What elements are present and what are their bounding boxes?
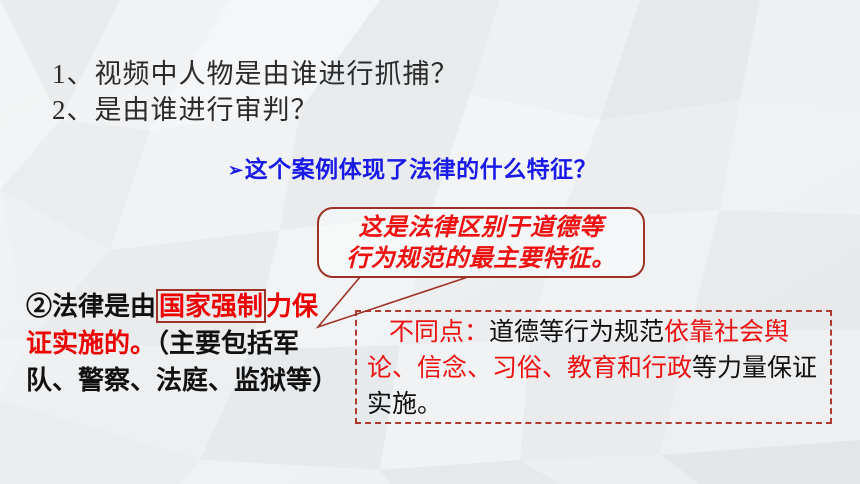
dashed-note-segment-1: 道德等行为规范 (489, 318, 664, 346)
slide-canvas: 1、视频中人物是由谁进行抓捕？ 2、是由谁进行审判？ ➢这个案例体现了法律的什么… (0, 0, 860, 484)
statement-boxed-highlight: 国家强制 (156, 289, 266, 323)
statement-marker: ② (26, 291, 52, 321)
sub-question: ➢这个案例体现了法律的什么特征？ (228, 154, 597, 185)
question-line-2: 2、是由谁进行审判？ (52, 92, 459, 128)
question-line-1: 1、视频中人物是由谁进行抓捕？ (52, 56, 459, 92)
dashed-note-text: 不同点：道德等行为规范依靠社会舆论、信念、习俗、教育和行政等力量保证实施。 (367, 314, 822, 422)
callout-text: 这是法律区别于道德等 行为规范的最主要特征。 (319, 213, 643, 275)
sub-question-text: 这个案例体现了法律的什么特征？ (245, 156, 598, 182)
callout-line-2: 行为规范的最主要特征。 (319, 244, 643, 275)
callout-line-1: 这是法律区别于道德等 (319, 213, 643, 244)
arrow-bullet-icon: ➢ (228, 160, 244, 180)
statement-block: ②法律是由国家强制力保证实施的。（主要包括军队、警察、法庭、监狱等） (26, 288, 341, 399)
callout-box: 这是法律区别于道德等 行为规范的最主要特征。 (317, 207, 645, 278)
question-list: 1、视频中人物是由谁进行抓捕？ 2、是由谁进行审判？ (52, 56, 459, 128)
dashed-note-label: 不同点： (389, 318, 489, 346)
dashed-note-box: 不同点：道德等行为规范依靠社会舆论、信念、习俗、教育和行政等力量保证实施。 (355, 310, 832, 424)
statement-part-1: 法律是由 (52, 291, 156, 321)
